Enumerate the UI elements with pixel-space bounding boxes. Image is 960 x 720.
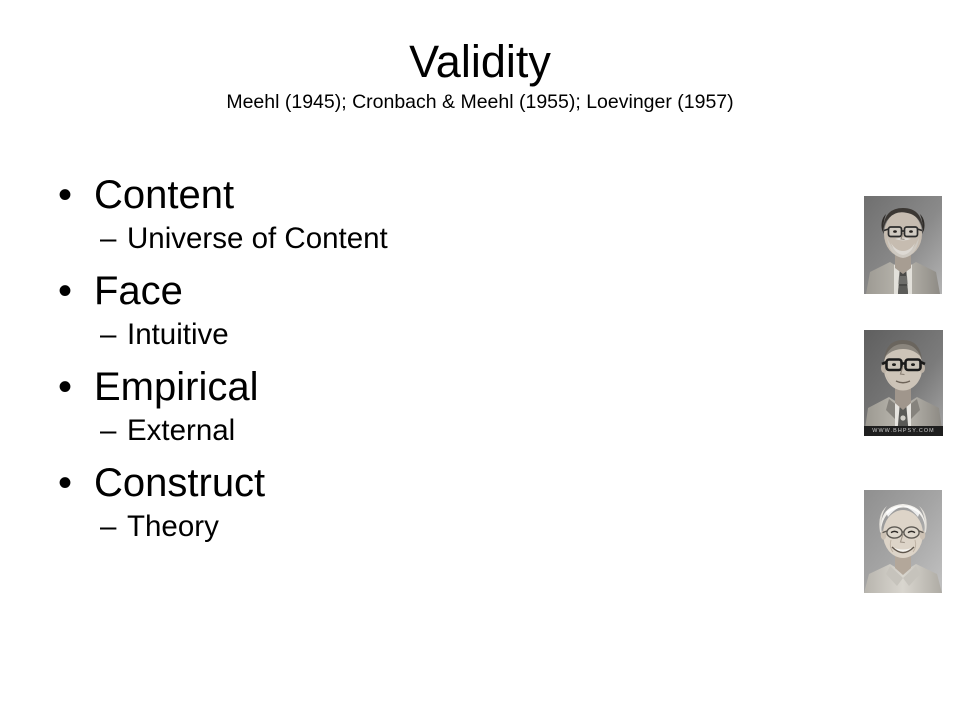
portrait-meehl-illustration <box>864 196 942 294</box>
portrait-photo-cronbach: WWW.BHPSY.COM <box>864 330 943 436</box>
bullet-dot-icon: • <box>52 268 94 315</box>
bullet-item-content: • Content <box>52 172 842 219</box>
slide-subtitle: Meehl (1945); Cronbach & Meehl (1955); L… <box>0 90 960 114</box>
bullet-list: • Content – Universe of Content • Face –… <box>52 172 842 549</box>
sub-bullet-label: External <box>127 412 235 450</box>
sub-bullet-item-universe-of-content: – Universe of Content <box>52 220 842 258</box>
bullet-dash-icon: – <box>100 316 127 354</box>
bullet-dot-icon: • <box>52 172 94 219</box>
bullet-dot-icon: • <box>52 460 94 507</box>
bullet-dash-icon: – <box>100 508 127 546</box>
sub-bullet-label: Universe of Content <box>127 220 388 258</box>
portrait-photo-meehl <box>864 196 942 294</box>
bullet-label: Face <box>94 268 183 315</box>
sub-bullet-item-intuitive: – Intuitive <box>52 316 842 354</box>
bullet-group-construct: • Construct – Theory <box>52 460 842 546</box>
bullet-label: Content <box>94 172 234 219</box>
bullet-group-empirical: • Empirical – External <box>52 364 842 450</box>
slide-canvas: Validity Meehl (1945); Cronbach & Meehl … <box>0 0 960 720</box>
bullet-item-face: • Face <box>52 268 842 315</box>
bullet-label: Construct <box>94 460 265 507</box>
sub-bullet-label: Theory <box>127 508 219 546</box>
bullet-dash-icon: – <box>100 220 127 258</box>
bullet-group-face: • Face – Intuitive <box>52 268 842 354</box>
sub-bullet-item-external: – External <box>52 412 842 450</box>
bullet-item-construct: • Construct <box>52 460 842 507</box>
bullet-dot-icon: • <box>52 364 94 411</box>
bullet-label: Empirical <box>94 364 258 411</box>
bullet-group-content: • Content – Universe of Content <box>52 172 842 258</box>
title-block: Validity Meehl (1945); Cronbach & Meehl … <box>0 36 960 114</box>
sub-bullet-item-theory: – Theory <box>52 508 842 546</box>
bullet-dash-icon: – <box>100 412 127 450</box>
photo-watermark: WWW.BHPSY.COM <box>864 426 943 436</box>
bullet-item-empirical: • Empirical <box>52 364 842 411</box>
portrait-cronbach-illustration <box>864 330 943 436</box>
portrait-loevinger-illustration <box>864 490 942 593</box>
portrait-photo-loevinger <box>864 490 942 593</box>
page-title: Validity <box>0 36 960 88</box>
sub-bullet-label: Intuitive <box>127 316 229 354</box>
